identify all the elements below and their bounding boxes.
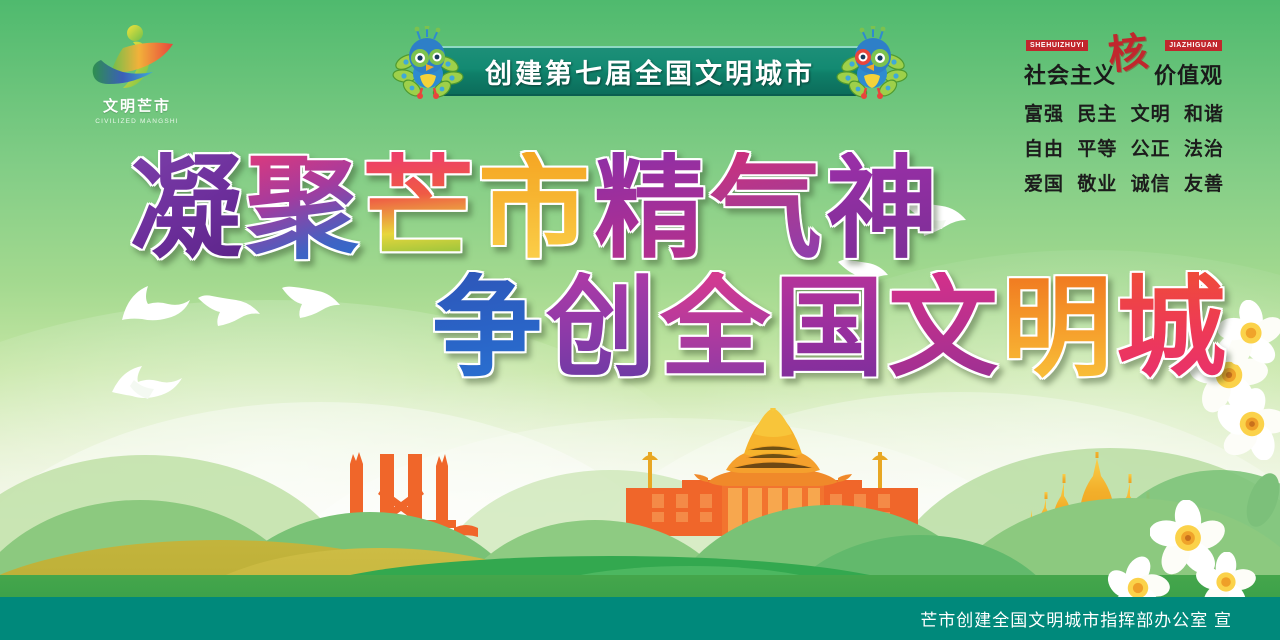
plumeria-flower-icon (1218, 300, 1280, 366)
ribbon-text: 创建第七届全国文明城市 (436, 46, 864, 96)
core-value-item: 法治 (1184, 134, 1224, 161)
plumeria-flower-icon (1216, 388, 1280, 460)
headline-char: 争 (430, 272, 544, 384)
poster-canvas: 文明芒市 CIVILIZED MANGSHI 创建第七届全国文明城市 (0, 0, 1280, 640)
core-values-heading-right: 价值观 (1154, 58, 1223, 90)
core-values-pinyin-left: SHEHUIZHUYI (1026, 40, 1088, 51)
peacock-mascot-icon (832, 26, 910, 104)
core-values-row: 自由 平等 公正 法治 (1024, 134, 1224, 161)
logo-name-pinyin: CIVILIZED MANGSHI (72, 118, 202, 125)
dove-icon (108, 358, 186, 410)
core-value-item: 友善 (1184, 169, 1224, 196)
headline-line-2: 争创全国文明城 (430, 272, 1228, 384)
headline-char: 文 (886, 272, 1000, 384)
core-values-heading-left: 社会主义 (1024, 58, 1116, 90)
core-value-item: 平等 (1077, 134, 1117, 161)
core-values-row: 富强 民主 文明 和谐 (1024, 99, 1224, 126)
core-values-heading: SHEHUIZHUYI JIAZHIGUAN 核 社会主义 价值观 (1024, 38, 1224, 90)
core-value-item: 自由 (1024, 134, 1064, 161)
credit-text: 芒市创建全国文明城市指挥部办公室 宣 (920, 606, 1232, 631)
dove-icon (836, 252, 892, 292)
civilized-mangshi-logo: 文明芒市 CIVILIZED MANGSHI (72, 22, 202, 132)
headline-char: 气 (708, 152, 824, 266)
dove-icon (120, 280, 192, 330)
core-value-item: 和谐 (1184, 99, 1224, 126)
dove-icon (900, 190, 970, 240)
headline-char: 市 (476, 152, 592, 266)
headline-line-1: 凝聚芒市精气神 (128, 152, 940, 266)
headline-char: 聚 (244, 152, 360, 266)
credit-bar: 芒市创建全国文明城市指挥部办公室 宣 (0, 597, 1280, 640)
headline-char: 创 (544, 272, 658, 384)
core-value-item: 公正 (1131, 134, 1171, 161)
core-value-item: 文明 (1131, 99, 1171, 126)
core-value-item: 民主 (1077, 99, 1117, 126)
headline-char: 精 (592, 152, 708, 266)
headline-char: 明 (1000, 272, 1114, 384)
dove-icon (196, 286, 264, 332)
core-values-rows: 富强 民主 文明 和谐 自由 平等 公正 法治 爱国 敬业 诚信 友善 (1024, 99, 1224, 196)
core-values-heading-text: 社会主义 价值观 (1024, 58, 1224, 90)
campaign-ribbon: 创建第七届全国文明城市 (390, 24, 910, 106)
core-values-pinyin-right: JIAZHIGUAN (1165, 40, 1222, 51)
core-socialist-values-panel: SHEHUIZHUYI JIAZHIGUAN 核 社会主义 价值观 富强 民主 … (1024, 38, 1224, 204)
headline-char: 全 (658, 272, 772, 384)
logo-mark-icon (87, 22, 187, 92)
peacock-mascot-icon (390, 26, 468, 104)
headline-char: 芒 (360, 152, 476, 266)
core-value-item: 爱国 (1024, 169, 1064, 196)
core-values-row: 爱国 敬业 诚信 友善 (1024, 169, 1224, 196)
dove-icon (278, 278, 344, 324)
core-value-item: 富强 (1024, 99, 1064, 126)
core-value-item: 诚信 (1131, 169, 1171, 196)
core-value-item: 敬业 (1077, 169, 1117, 196)
headline-char: 凝 (128, 152, 244, 266)
logo-name-cn: 文明芒市 (72, 95, 202, 116)
plumeria-leaf-icon (1238, 470, 1280, 530)
